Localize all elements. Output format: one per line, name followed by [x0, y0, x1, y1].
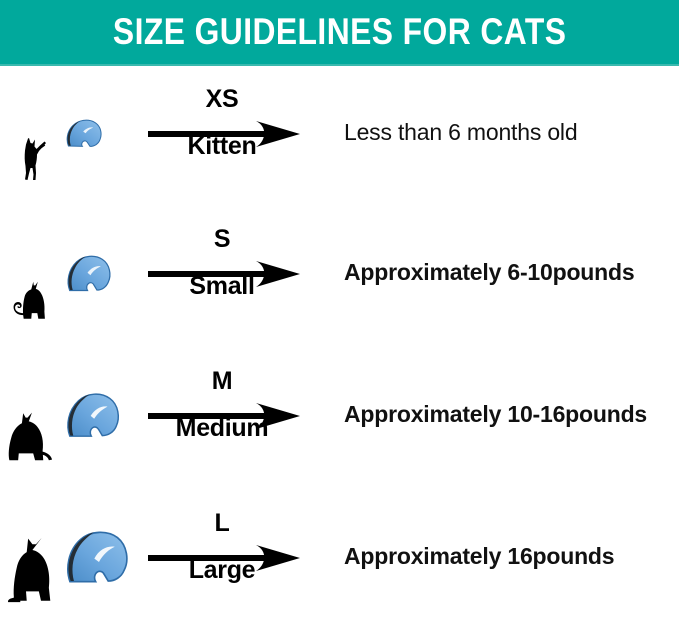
- size-arrow-cell: M Medium: [148, 365, 338, 465]
- claw-cap-cell: [62, 365, 148, 465]
- cat-silhouette-cell: [0, 223, 62, 323]
- claw-cap-xs-icon: [64, 116, 104, 150]
- cat-silhouette-cell: [0, 83, 62, 183]
- size-description-cell: Approximately 6-10pounds: [338, 223, 679, 323]
- size-arrow-cell: XS Kitten: [148, 83, 338, 183]
- size-name-label: Kitten: [148, 134, 296, 159]
- kitten-standing-silhouette-icon: [13, 133, 49, 183]
- size-code-label: XS: [148, 87, 296, 112]
- claw-cap-s-icon: [64, 252, 114, 294]
- size-arrow-cell: L Large: [148, 507, 338, 607]
- size-row: L Large Approximately 16pounds: [0, 490, 679, 623]
- size-row: XS Kitten Less than 6 months old: [0, 66, 679, 199]
- claw-cap-cell: [62, 83, 148, 183]
- size-code-label: L: [148, 511, 296, 536]
- size-description-cell: Approximately 10-16pounds: [338, 365, 679, 465]
- cat-silhouette-cell: [0, 507, 62, 607]
- claw-cap-l-icon: [64, 529, 130, 585]
- size-name-label: Small: [148, 274, 296, 299]
- size-row: M Medium Approximately 10-16pounds: [0, 348, 679, 481]
- size-row: S Small Approximately 6-10pounds: [0, 206, 679, 339]
- cat-silhouette-cell: [0, 365, 62, 465]
- claw-cap-cell: [62, 223, 148, 323]
- size-guidelines-list: XS Kitten Less than 6 months old: [0, 66, 679, 599]
- size-arrow-cell: S Small: [148, 223, 338, 323]
- size-name-label: Large: [148, 558, 296, 583]
- cat-sitting-medium-silhouette-icon: [4, 407, 58, 465]
- size-code-label: S: [148, 227, 296, 252]
- claw-cap-cell: [62, 507, 148, 607]
- claw-cap-m-icon: [64, 390, 122, 440]
- cat-sitting-large-silhouette-icon: [6, 533, 56, 607]
- page-header: SIZE GUIDELINES FOR CATS: [0, 0, 679, 65]
- size-name-label: Medium: [148, 416, 296, 441]
- size-code-label: M: [148, 369, 296, 394]
- size-description: Approximately 16pounds: [344, 543, 614, 570]
- page-title: SIZE GUIDELINES FOR CATS: [113, 13, 566, 52]
- size-description: Approximately 6-10pounds: [344, 259, 634, 286]
- size-description-cell: Less than 6 months old: [338, 83, 679, 183]
- size-description: Less than 6 months old: [344, 119, 577, 146]
- size-description-cell: Approximately 16pounds: [338, 507, 679, 607]
- size-description: Approximately 10-16pounds: [344, 401, 647, 428]
- cat-sitting-small-silhouette-icon: [7, 277, 55, 323]
